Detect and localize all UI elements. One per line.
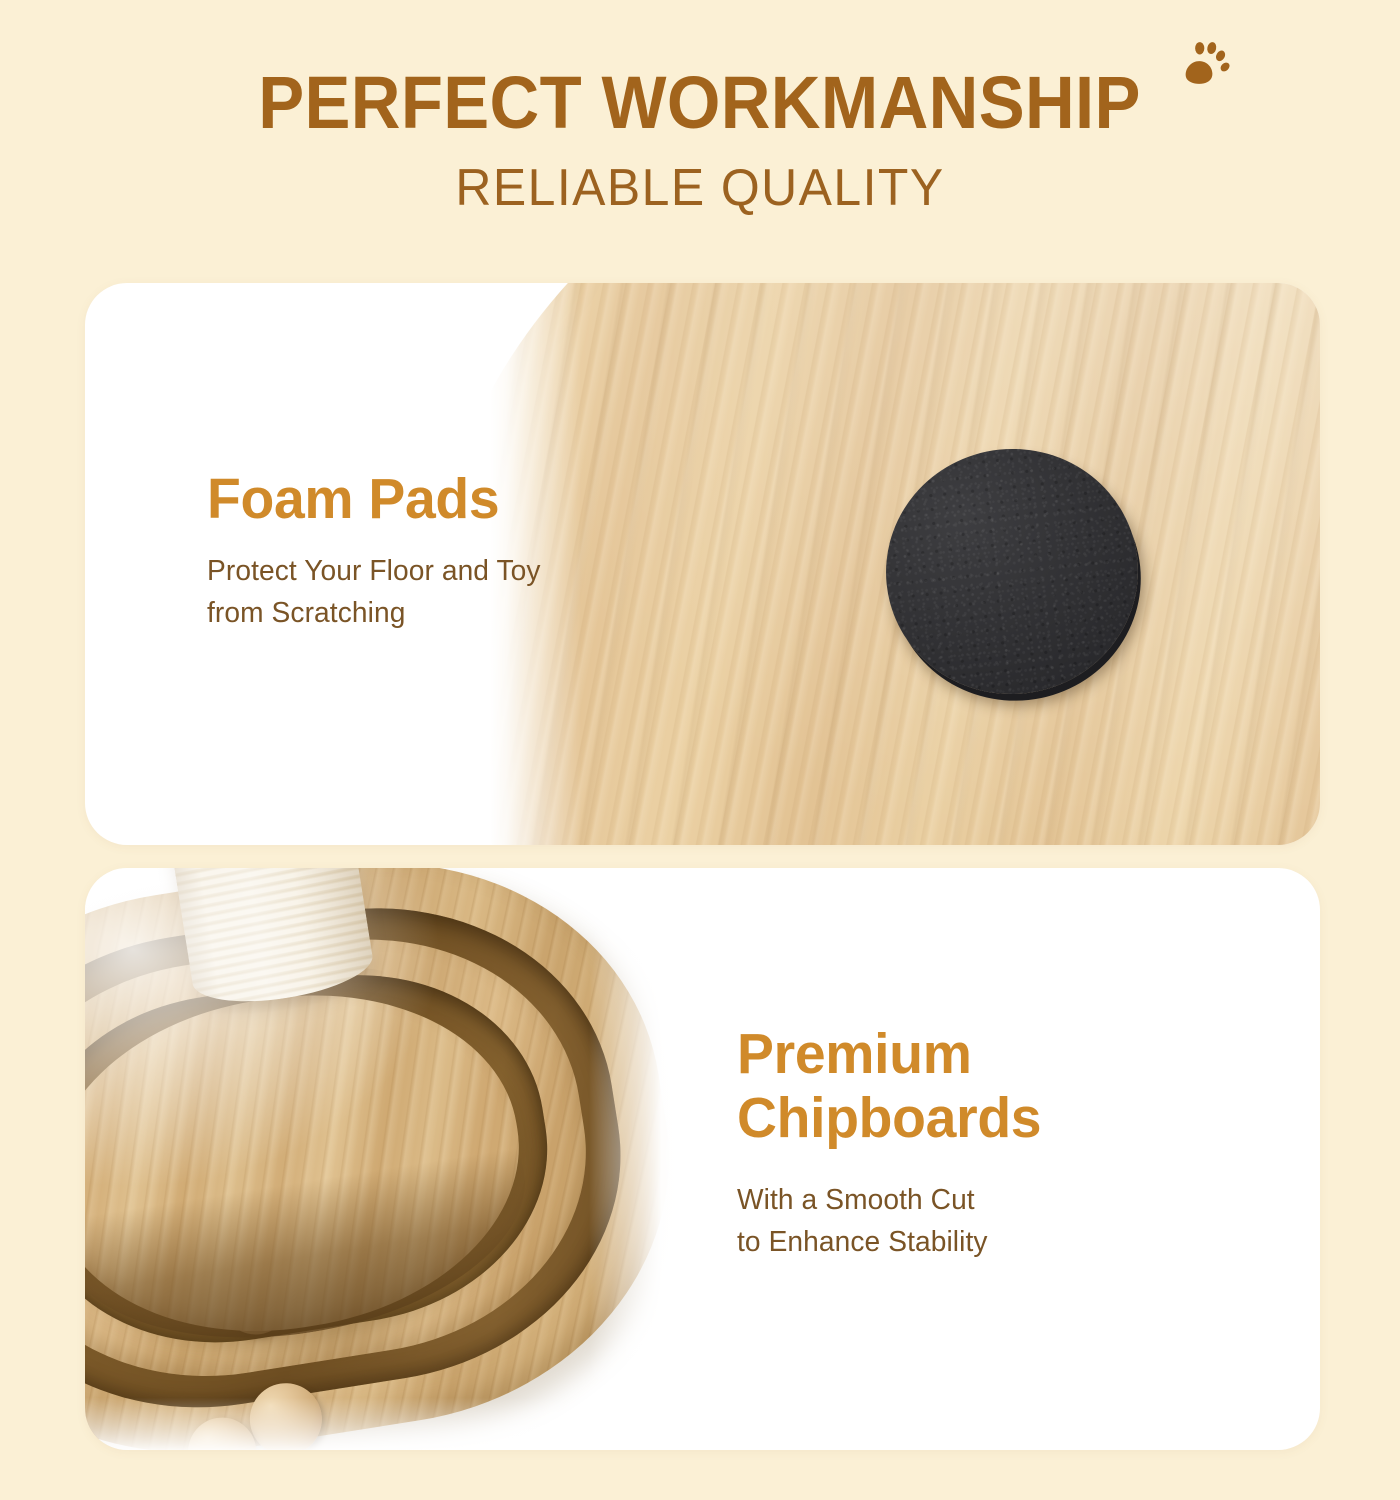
chipboards-description-line-2: to Enhance Stability — [737, 1221, 1154, 1263]
feature-card-foam-pads: Foam Pads Protect Your Floor and Toy fro… — [85, 283, 1320, 845]
chipboards-description: With a Smooth Cut to Enhance Stability — [737, 1179, 1154, 1263]
cat-toy-graphic — [85, 868, 685, 1450]
chipboards-heading-line-2: Chipboards — [737, 1087, 1154, 1151]
chipboard-product-photo — [85, 868, 685, 1450]
foam-pads-text-block: Foam Pads Protect Your Floor and Toy fro… — [207, 468, 637, 634]
chipboards-text-block: Premium Chipboards With a Smooth Cut to … — [737, 1023, 1167, 1263]
marketing-page: PERFECT WORKMANSHIP RELIABLE QUALITY — [0, 0, 1400, 1500]
page-title: PERFECT WORKMANSHIP — [259, 66, 1142, 140]
foam-pads-description-line-2: from Scratching — [207, 592, 624, 634]
title-group: PERFECT WORKMANSHIP — [225, 66, 1174, 140]
foam-pads-description: Protect Your Floor and Toy from Scratchi… — [207, 550, 624, 634]
page-subtitle: RELIABLE QUALITY — [28, 162, 1372, 214]
chipboards-heading-line-1: Premium — [737, 1023, 1154, 1087]
foam-pads-heading: Foam Pads — [207, 468, 624, 532]
chipboards-description-line-1: With a Smooth Cut — [737, 1179, 1154, 1221]
feature-card-premium-chipboards: Premium Chipboards With a Smooth Cut to … — [85, 868, 1320, 1450]
chipboards-heading: Premium Chipboards — [737, 1023, 1154, 1151]
page-header: PERFECT WORKMANSHIP RELIABLE QUALITY — [0, 0, 1400, 260]
paw-print-icon — [1177, 40, 1233, 96]
foam-pads-description-line-1: Protect Your Floor and Toy — [207, 550, 624, 592]
